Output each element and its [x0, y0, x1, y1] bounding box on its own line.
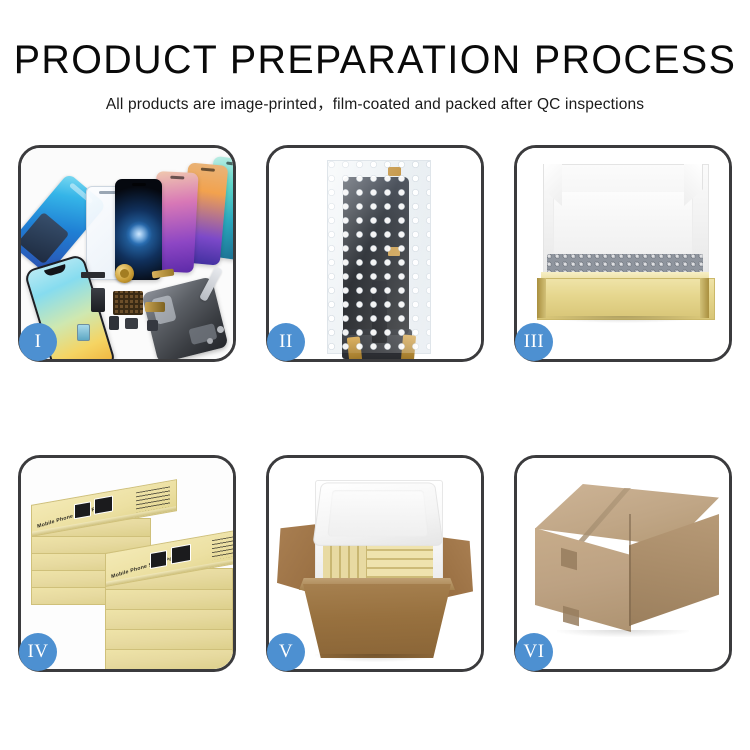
sealed-carton-shadow [557, 630, 689, 637]
open-box-icon [517, 148, 729, 359]
process-step-panel-6[interactable]: VI [514, 455, 732, 672]
stacked-box-front-4 [105, 628, 233, 650]
box-window-rear-2 [94, 495, 113, 514]
sealed-carton-left-face [535, 528, 631, 632]
phone-parts-icon [21, 148, 233, 359]
stacked-box-front-3 [105, 608, 233, 630]
screw-part-1 [217, 326, 224, 333]
stacked-box-front-2 [105, 588, 233, 610]
box-stack-icon: Mobile Phone Spare Parts Mobile Phone Sp… [21, 458, 233, 669]
box-window-front-2 [171, 544, 191, 565]
carton-tape-mark-2 [563, 606, 579, 627]
kraft-box-edge-right [700, 278, 709, 318]
bubble-wrap-icon [269, 148, 481, 359]
step-badge-1: I [19, 323, 57, 361]
header: PRODUCT PREPARATION PROCESS All products… [0, 0, 750, 114]
panel-image-1 [21, 148, 233, 359]
panel-image-3 [517, 148, 729, 359]
page-title: PRODUCT PREPARATION PROCESS [6, 40, 745, 80]
step-badge-2: II [267, 323, 305, 361]
panel-image-4: Mobile Phone Spare Parts Mobile Phone Sp… [21, 458, 233, 669]
carton-sealed-icon [517, 458, 729, 669]
box-window-front-1 [150, 550, 167, 569]
process-step-panel-5[interactable]: V [266, 455, 484, 672]
flex-cable-part-3 [109, 316, 119, 330]
page-subtitle: All products are image-printed，film-coat… [0, 92, 750, 114]
flex-cable-part-2 [91, 288, 105, 312]
stacked-box-front-5 [105, 648, 233, 669]
step-badge-4: IV [19, 633, 57, 671]
carton-front-face [303, 584, 451, 658]
flex-cable-part-5 [145, 302, 165, 312]
carton-open-icon [269, 458, 481, 669]
sealed-carton-front-edge [629, 514, 631, 626]
kraft-box-edge-left [537, 278, 546, 318]
speaker-bar-part [81, 272, 105, 278]
chip-array-part [113, 291, 143, 315]
box-shadow [543, 316, 703, 323]
flex-cable-part-4 [125, 318, 138, 329]
box-spec-lines-front [212, 534, 233, 560]
styrofoam-lid [312, 483, 443, 546]
camera-module-part [77, 324, 90, 341]
panel-image-6 [517, 458, 729, 669]
step-badge-3: III [515, 323, 553, 361]
phone-back-housing [141, 276, 228, 359]
carton-shadow [315, 654, 435, 662]
panel-image-2 [269, 148, 481, 359]
flex-cable-part-1 [152, 269, 175, 279]
step-badge-5: V [267, 633, 305, 671]
vibration-motor-part [115, 264, 134, 283]
process-step-panel-1[interactable]: I [18, 145, 236, 362]
flex-cable-part-6 [147, 320, 158, 331]
process-step-panel-3[interactable]: III [514, 145, 732, 362]
process-step-grid: I II [18, 145, 732, 672]
process-step-panel-4[interactable]: Mobile Phone Spare Parts Mobile Phone Sp… [18, 455, 236, 672]
kraft-box-front [537, 278, 715, 320]
step-badge-6: VI [515, 633, 553, 671]
box-window-rear-1 [74, 501, 91, 519]
bubble-wrap-bag [327, 160, 431, 354]
panel-image-5 [269, 458, 481, 669]
plastic-sheen [328, 161, 430, 353]
screw-part-2 [207, 338, 213, 344]
process-step-panel-2[interactable]: II [266, 145, 484, 362]
